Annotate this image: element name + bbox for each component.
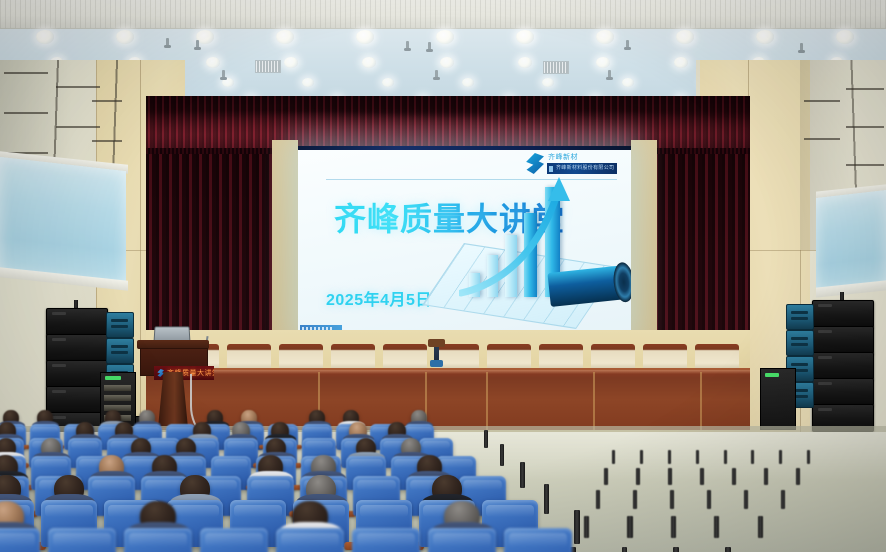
auditorium-seat (428, 528, 496, 552)
auditorium-seat (124, 528, 192, 552)
auditorium-seat (276, 528, 344, 552)
auditorium-photo: 齐峰新材 齐峰新材料股份有限公司 齐峰质量大讲堂 2025年4月5日 (0, 0, 886, 552)
seat-row (0, 0, 886, 552)
auditorium-seat (200, 528, 268, 552)
auditorium-seat (504, 528, 572, 552)
auditorium-seat (0, 528, 40, 552)
auditorium-seat (352, 528, 420, 552)
auditorium-seat (48, 528, 116, 552)
